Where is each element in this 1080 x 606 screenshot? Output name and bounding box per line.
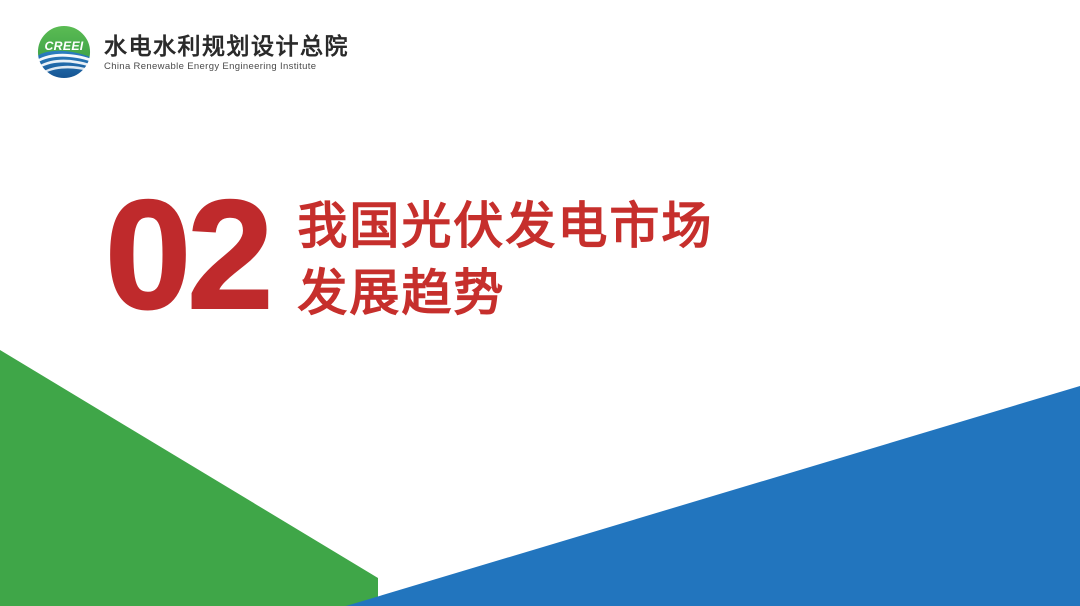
section-title-line-2: 发展趋势 [297, 267, 713, 320]
blue-triangle-bottom-right [346, 386, 1080, 606]
creei-logo-icon: CREEI [36, 24, 92, 80]
section-title: 我国光伏发电市场 发展趋势 [297, 186, 713, 320]
section-number: 02 [105, 188, 269, 321]
section-title-line-1: 我国光伏发电市场 [297, 200, 713, 253]
green-triangle-bottom-left [0, 350, 378, 606]
logo-lockup: CREEI 水电水利规划设计总院 China Renewable Energy … [36, 24, 349, 80]
creei-wordmark: CREEI [44, 39, 83, 53]
organization-name-cn: 水电水利规划设计总院 [104, 34, 349, 58]
section-headline: 02 我国光伏发电市场 发展趋势 [105, 186, 713, 321]
logo-text-block: 水电水利规划设计总院 China Renewable Energy Engine… [104, 32, 349, 73]
organization-name-en: China Renewable Energy Engineering Insti… [104, 61, 349, 72]
slide-canvas: CREEI 水电水利规划设计总院 China Renewable Energy … [0, 0, 1080, 606]
